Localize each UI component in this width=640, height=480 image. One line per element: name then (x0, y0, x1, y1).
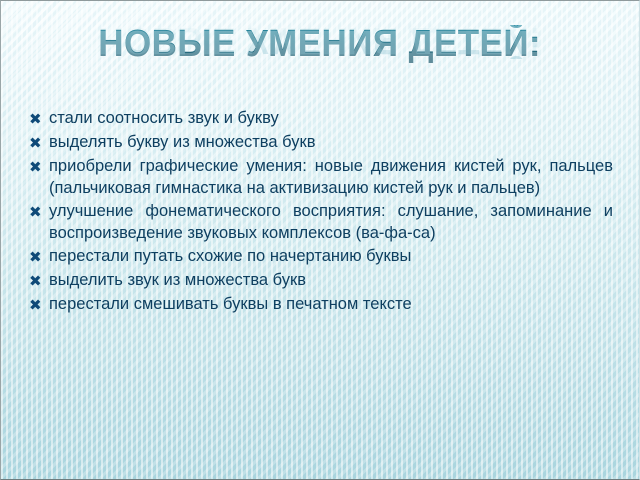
heavy-multiplication-x-icon: ✖ (29, 270, 49, 292)
list-item-label: перестали смешивать буквы в печатном тек… (49, 293, 613, 315)
heavy-multiplication-x-icon: ✖ (29, 246, 49, 268)
slide-title-block: НОВЫЕ УМЕНИЯ ДЕТЕЙ: НОВЫЕ УМЕНИЯ ДЕТЕЙ: (1, 25, 639, 97)
list-item: ✖выделить звук из множества букв (29, 269, 613, 292)
page-title: НОВЫЕ УМЕНИЯ ДЕТЕЙ: (99, 25, 542, 63)
list-item-label: перестали путать схожие по начертанию бу… (49, 245, 613, 267)
slide-content: НОВЫЕ УМЕНИЯ ДЕТЕЙ: НОВЫЕ УМЕНИЯ ДЕТЕЙ: … (1, 1, 639, 479)
heavy-multiplication-x-icon: ✖ (29, 294, 49, 316)
list-item-label: улучшение фонематического восприятия: сл… (49, 200, 613, 244)
list-item: ✖перестали смешивать буквы в печатном те… (29, 293, 613, 316)
list-item-label: выделять букву из множества букв (49, 131, 613, 153)
heavy-multiplication-x-icon: ✖ (29, 132, 49, 154)
list-item: ✖выделять букву из множества букв (29, 131, 613, 154)
presentation-slide: НОВЫЕ УМЕНИЯ ДЕТЕЙ: НОВЫЕ УМЕНИЯ ДЕТЕЙ: … (0, 0, 640, 480)
list-item-label: стали соотносить звук и букву (49, 107, 613, 129)
list-item: ✖перестали путать схожие по начертанию б… (29, 245, 613, 268)
list-item-label: приобрели графические умения: новые движ… (49, 155, 613, 199)
heavy-multiplication-x-icon: ✖ (29, 156, 49, 178)
heavy-multiplication-x-icon: ✖ (29, 108, 49, 130)
skills-bullet-list: ✖стали соотносить звук и букву✖выделять … (29, 107, 613, 317)
list-item-label: выделить звук из множества букв (49, 269, 613, 291)
list-item: ✖приобрели графические умения: новые дви… (29, 155, 613, 199)
list-item: ✖улучшение фонематического восприятия: с… (29, 200, 613, 244)
list-item: ✖стали соотносить звук и букву (29, 107, 613, 130)
heavy-multiplication-x-icon: ✖ (29, 201, 49, 223)
